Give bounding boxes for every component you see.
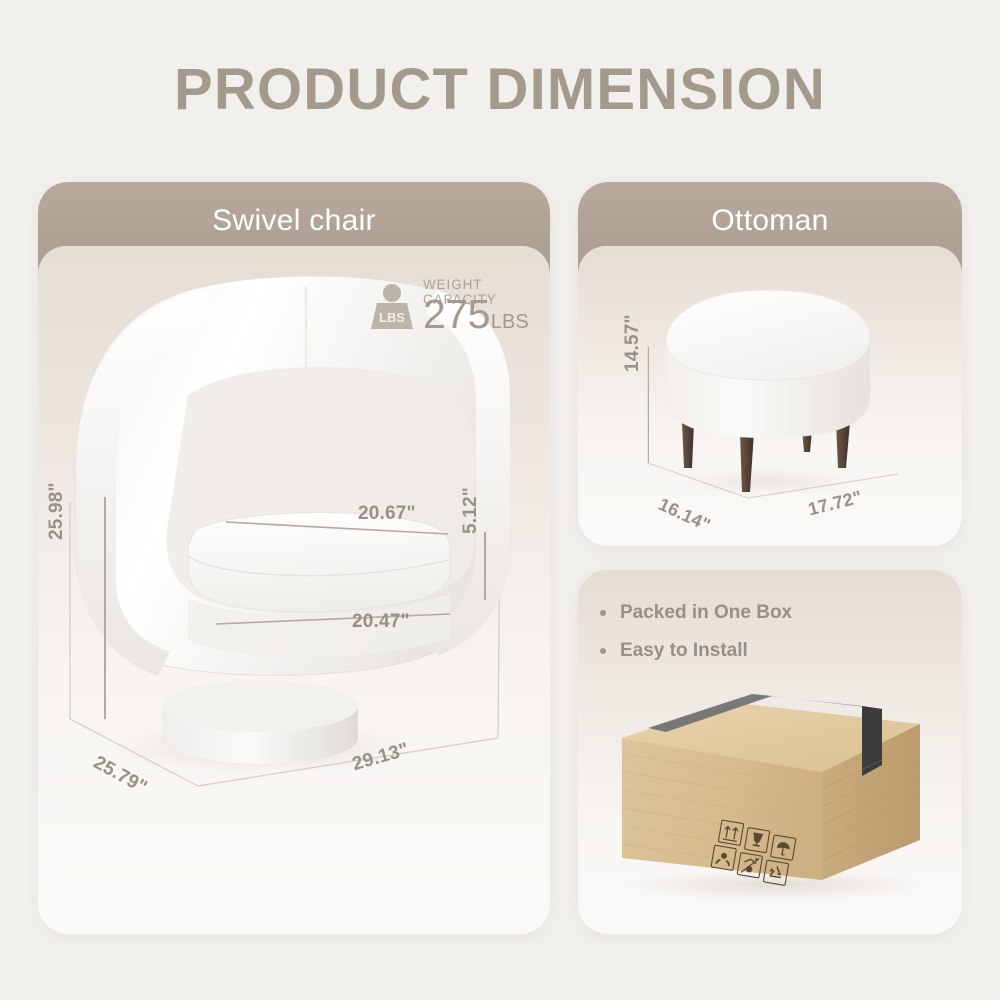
chair-card-title: Swivel chair	[38, 204, 550, 238]
page-title: PRODUCT DIMENSION	[0, 56, 1000, 123]
chair-seat-width-bottom-label: 20.47"	[352, 611, 410, 633]
bullet-icon	[600, 610, 606, 616]
ottoman-card-title: Ottoman	[578, 204, 962, 238]
packaging-feature-list: Packed in One Box Easy to Install	[600, 602, 792, 678]
chair-seat-height-line	[484, 532, 486, 600]
packaging-feature-label: Easy to Install	[620, 640, 748, 662]
weight-lbs-icon: LBS	[368, 281, 416, 333]
ottoman-height-label: 14.57"	[622, 314, 644, 372]
ottoman-height-line	[648, 347, 649, 463]
bullet-icon	[600, 648, 606, 654]
cardboard-box-illustration	[600, 680, 960, 910]
weight-capacity-badge: LBS WEIGHT CAPACITY 275 LBS	[368, 277, 533, 337]
svg-text:LBS: LBS	[379, 310, 405, 325]
chair-seat-width-top-label: 20.67"	[358, 503, 416, 525]
weight-capacity-value: 275	[423, 291, 490, 338]
chair-height-label: 25.98"	[46, 482, 68, 540]
ottoman-illustration	[578, 246, 962, 546]
chair-seat-height-label: 5.12"	[460, 487, 482, 534]
weight-capacity-value-row: 275 LBS	[423, 291, 529, 338]
chair-height-line	[104, 497, 106, 719]
weight-capacity-unit: LBS	[491, 311, 529, 334]
packaging-feature-label: Packed in One Box	[620, 602, 792, 624]
swivel-chair-illustration	[38, 246, 550, 934]
list-item: Packed in One Box	[600, 602, 792, 624]
list-item: Easy to Install	[600, 640, 792, 662]
